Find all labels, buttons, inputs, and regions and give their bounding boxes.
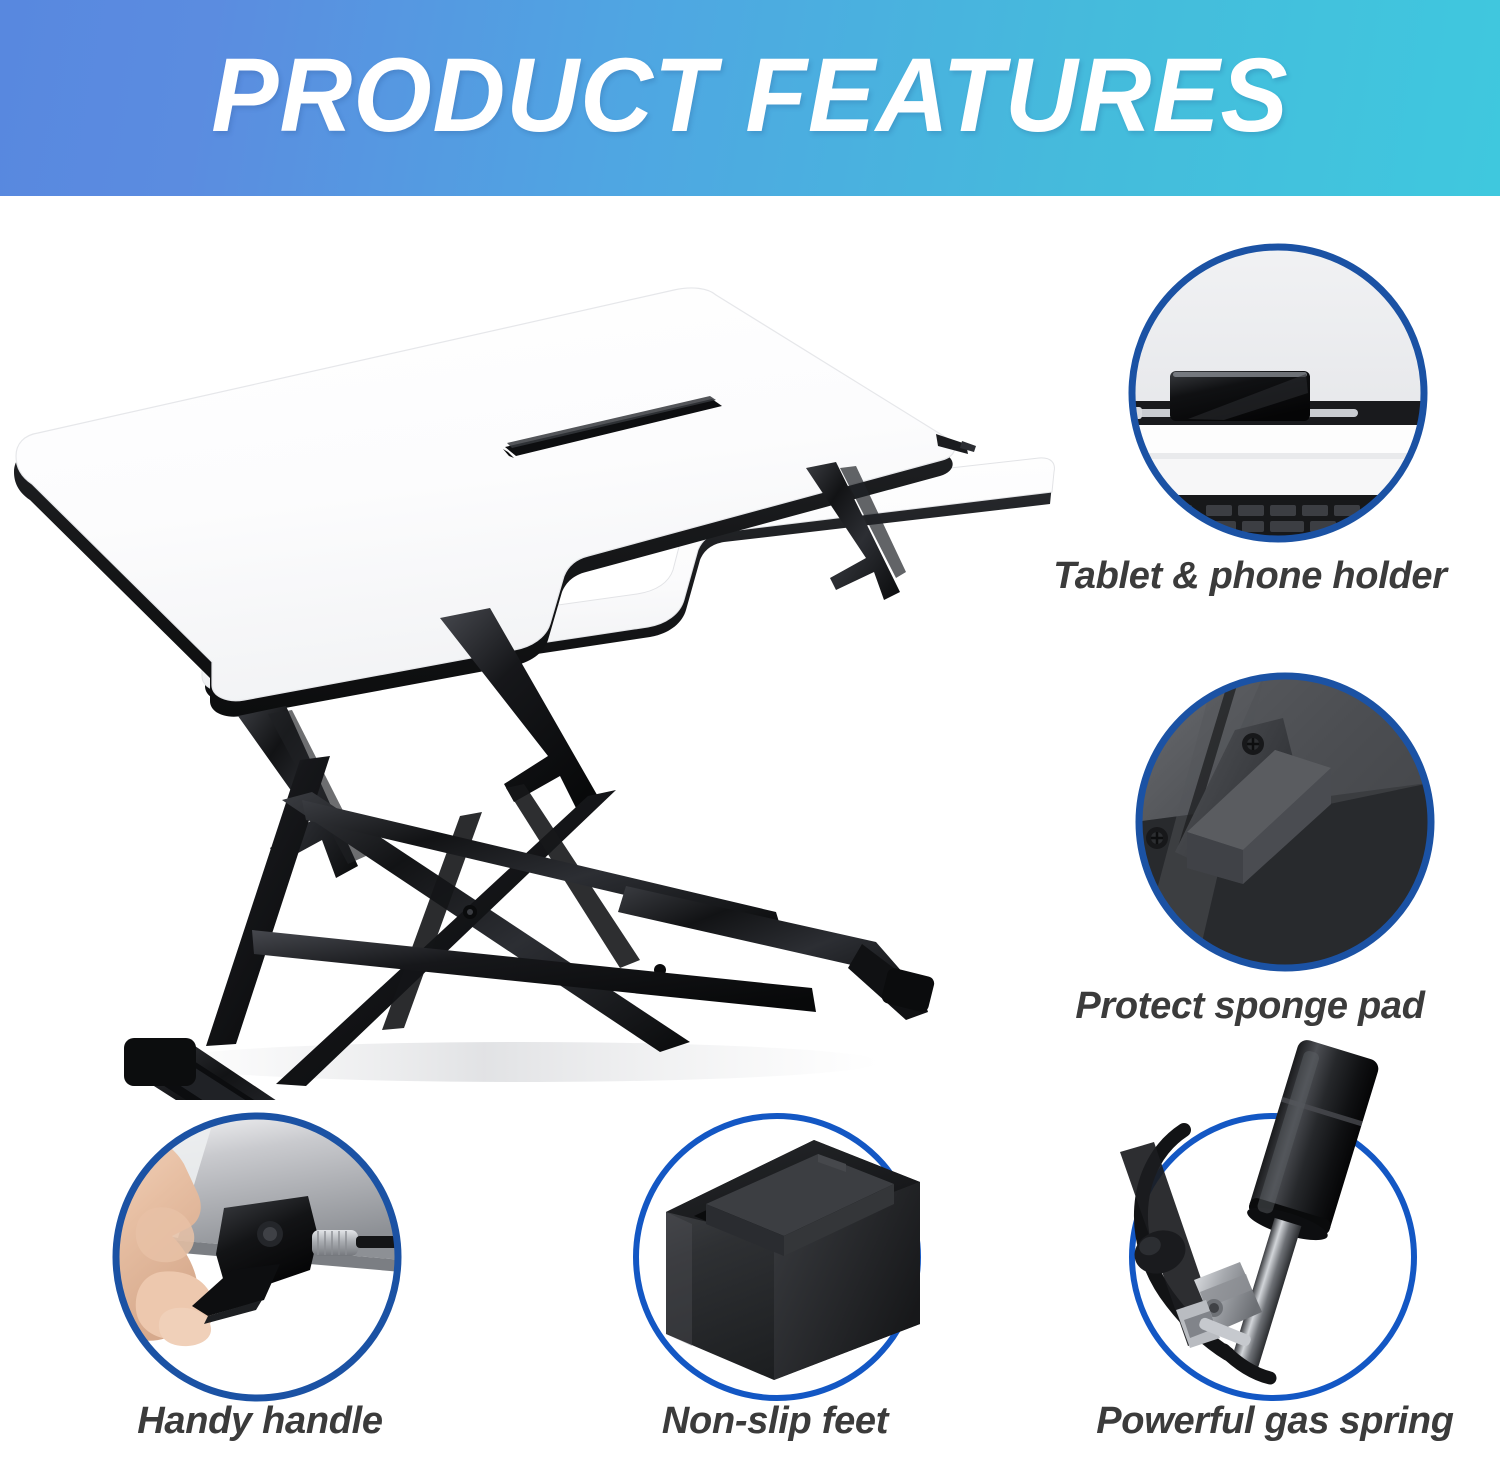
feature-callout-tablet — [1128, 243, 1428, 543]
feature-callout-handle — [112, 1112, 402, 1402]
sponge-pad-icon — [1135, 672, 1435, 972]
tablet-holder-icon — [1128, 243, 1428, 543]
feature-callout-feet — [632, 1112, 922, 1402]
header-banner: PRODUCT FEATURES — [0, 0, 1500, 196]
foot-cap-right — [880, 967, 935, 1014]
feature-callout-sponge — [1135, 672, 1435, 972]
foot-cap-left-rear — [124, 1038, 196, 1086]
product-features-infographic: PRODUCT FEATURES — [0, 0, 1500, 1465]
chrome-knob — [312, 1230, 358, 1256]
x-arm-a — [282, 792, 690, 1052]
feature-label-feet: Non-slip feet — [570, 1400, 980, 1443]
handle-icon — [112, 1112, 402, 1402]
feature-label-handle: Handy handle — [55, 1400, 465, 1443]
feature-label-tablet: Tablet & phone holder — [1020, 555, 1480, 598]
page-title: PRODUCT FEATURES — [30, 0, 1470, 196]
non-slip-foot-icon — [632, 1112, 922, 1402]
gas-spring-icon — [1128, 1112, 1418, 1402]
feature-callout-gasspring — [1128, 1112, 1418, 1402]
feature-label-sponge: Protect sponge pad — [1020, 985, 1480, 1028]
feature-label-gasspring: Powerful gas spring — [1060, 1400, 1490, 1443]
product-hero-image — [0, 200, 1060, 1100]
floor-shadow — [160, 1042, 880, 1082]
